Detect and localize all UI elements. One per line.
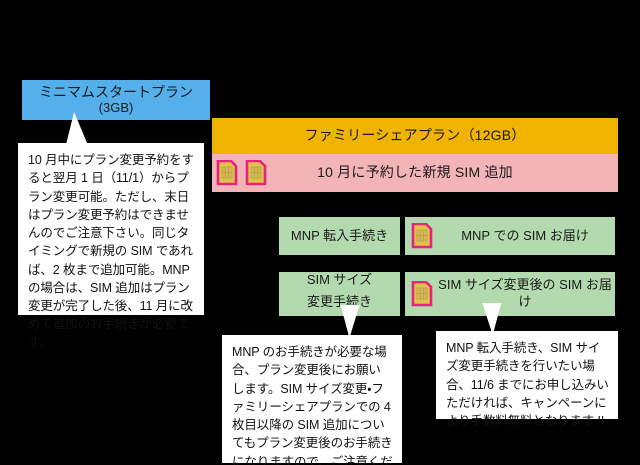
process-box-mnp-deliver: MNP での SIM お届け [405,217,615,255]
callout-note-right-text: MNP 転入手続き、SIM サイズ変更手続きを行いたい場合、11/6 までにお申… [446,341,609,428]
diagram-canvas: ミニマムスタートプラン (3GB) ファミリーシェアプラン（12GB） [0,0,640,465]
callout-note-left: 10 月中にプラン変更予約をすると翌月 1 日（11/1）からプラン変更可能。た… [18,143,204,315]
callout-note-middle: MNP のお手続きが必要な場合、プラン変更後にお願いします。SIM サイズ変更・… [222,335,402,463]
callout-note-right: MNP 転入手続き、SIM サイズ変更手続きを行いたい場合、11/6 までにお申… [436,331,618,419]
new-sim-label: 10 月に予約した新規 SIM 追加 [317,164,513,182]
sim-card-icon [411,223,433,249]
process-box-mnp-apply: MNP 転入手続き [279,217,400,255]
process-size-apply-label-line2: 変更手続き [307,294,372,316]
new-sim-row: 10 月に予約した新規 SIM 追加 [212,154,618,192]
new-sim-icon-group [216,160,267,186]
process-size-apply-label-line1: SIM サイズ [307,272,372,294]
plan-bar-minimum-start: ミニマムスタートプラン (3GB) [22,80,210,120]
process-box-size-deliver: SIM サイズ変更後の SIM お届け [405,272,615,316]
sim-card-icon [245,160,267,186]
plan-minimum-capacity: (3GB) [99,100,134,116]
process-mnp-deliver-label: MNP での SIM お届け [435,228,615,245]
process-size-deliver-label: SIM サイズ変更後の SIM お届け [435,277,615,311]
process-mnp-apply-label: MNP 転入手続き [279,228,400,245]
callout-note-middle-text: MNP のお手続きが必要な場合、プラン変更後にお願いします。SIM サイズ変更・… [232,345,393,465]
plan-family-label: ファミリーシェアプラン（12GB） [305,127,526,145]
plan-minimum-name: ミニマムスタートプラン [39,84,193,102]
callout-note-left-text: 10 月中にプラン変更予約をすると翌月 1 日（11/1）からプラン変更可能。た… [28,153,194,350]
process-box-size-apply: SIM サイズ 変更手続き [279,272,400,316]
sim-card-icon [216,160,238,186]
plan-bar-family-share: ファミリーシェアプラン（12GB） [212,118,618,154]
sim-card-icon [411,281,433,307]
